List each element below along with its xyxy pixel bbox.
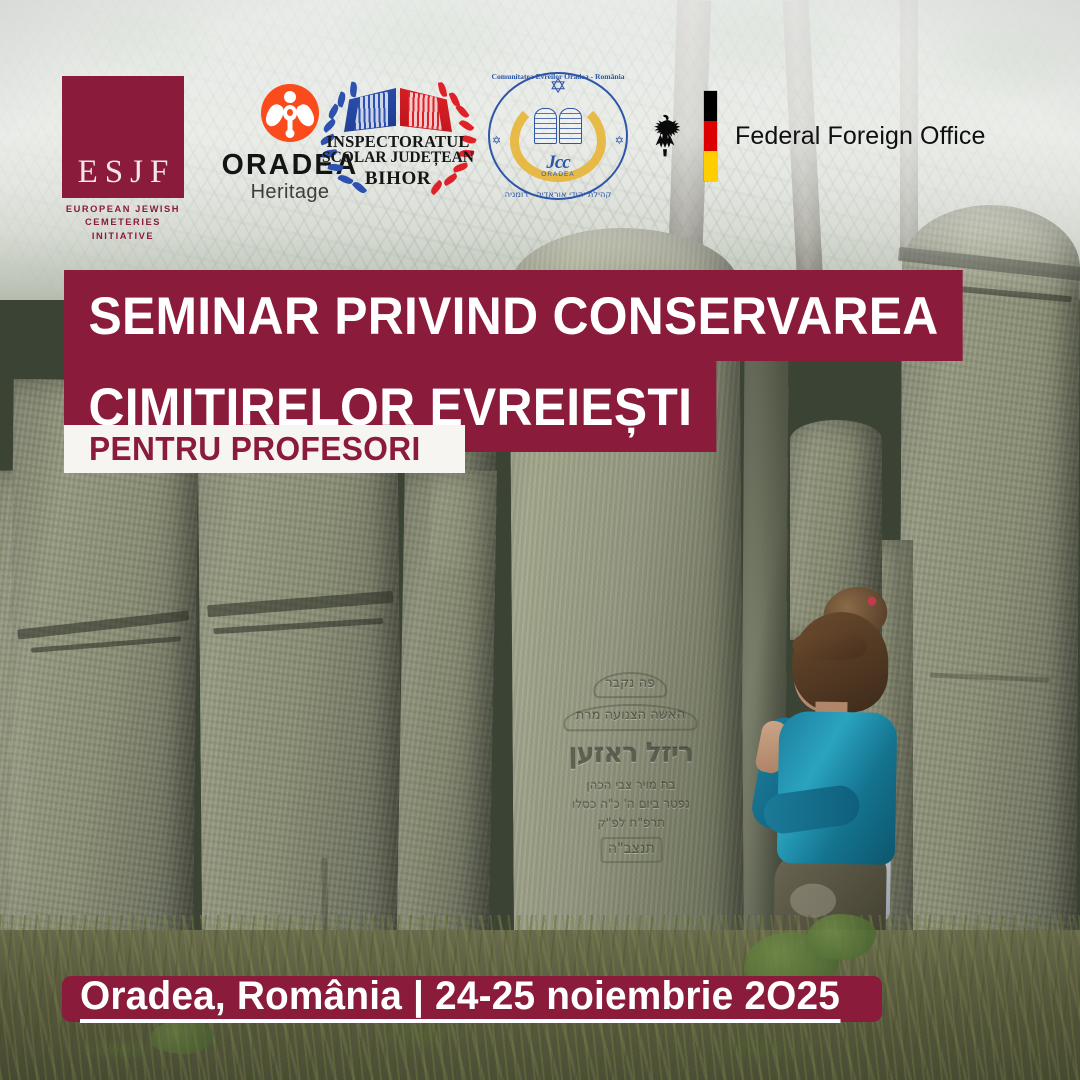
figure-hair (791, 611, 889, 713)
esjf-square: ESJF (62, 76, 184, 198)
subtitle-band: PENTRU PROFESORI (64, 425, 465, 473)
inscription-arch-second: האשה הצנועה מרת (564, 704, 698, 731)
inscription-footer: תנצב"ה (600, 837, 663, 863)
jcc-hebrew-legend: קהילת יהודי אוראדיה - רומניה (488, 189, 628, 199)
inscription-line-2: נפטר ביום ה' כ"ה כסלו (546, 797, 716, 813)
oradea-flower-icon (261, 84, 319, 142)
esjf-tagline: EUROPEAN JEWISH CEMETERIES INITIATIVE (62, 203, 184, 243)
poster-canvas: פה נקבר האשה הצנועה מרת ריזל ראזען בת מו… (0, 0, 1080, 1080)
bundesadler-eagle-icon (640, 111, 690, 161)
esjf-wordmark: ESJF (62, 154, 184, 191)
logo-comunitatea-evreilor-oradea[interactable]: Comunitatea Evreilor Oradea - România ✡ … (488, 72, 628, 200)
logo-isj-bihor[interactable]: INSPECTORATUL ȘCOLAR JUDEȚEAN BIHOR (318, 74, 478, 196)
jcc-city-label: ORADEA (541, 171, 574, 178)
isj-line-3: BIHOR (318, 168, 478, 190)
headline-line-1: SEMINAR PRIVIND CONSERVAREA (64, 270, 963, 361)
logo-esjf[interactable]: ESJF EUROPEAN JEWISH CEMETERIES INITIATI… (62, 76, 184, 243)
hebrew-inscription: פה נקבר האשה הצנועה מרת ריזל ראזען בת מו… (545, 671, 717, 922)
star-of-david-icon: ✡ (549, 76, 567, 97)
partner-logo-row: ESJF EUROPEAN JEWISH CEMETERIES INITIATI… (0, 60, 1080, 210)
inscription-arch-top: פה נקבר (593, 672, 667, 699)
date-location-text: Oradea, România | 24-25 noiembrie 2O25 (80, 976, 840, 1023)
subtitle-text: PENTRU PROFESORI (64, 430, 421, 468)
german-flag-bar (704, 91, 717, 181)
star-of-david-small-icon: ✡ (492, 134, 501, 147)
open-book-icon (344, 88, 452, 134)
star-of-david-small-icon: ✡ (615, 134, 624, 147)
tablets-of-law-icon (534, 108, 582, 144)
inscription-line-1: בת מויר צבי הכהן (546, 778, 716, 794)
figure-fringe (792, 629, 867, 660)
ffo-label: Federal Foreign Office (735, 122, 985, 151)
isj-line-2: ȘCOLAR JUDEȚEAN (318, 149, 478, 167)
inscription-line-3: תרפ"ח לפ"ק (546, 816, 716, 832)
inscription-name: ריזל ראזען (546, 736, 716, 771)
logo-federal-foreign-office[interactable]: Federal Foreign Office (640, 86, 985, 186)
date-location-pill: Oradea, România | 24-25 noiembrie 2O25 (62, 976, 882, 1022)
